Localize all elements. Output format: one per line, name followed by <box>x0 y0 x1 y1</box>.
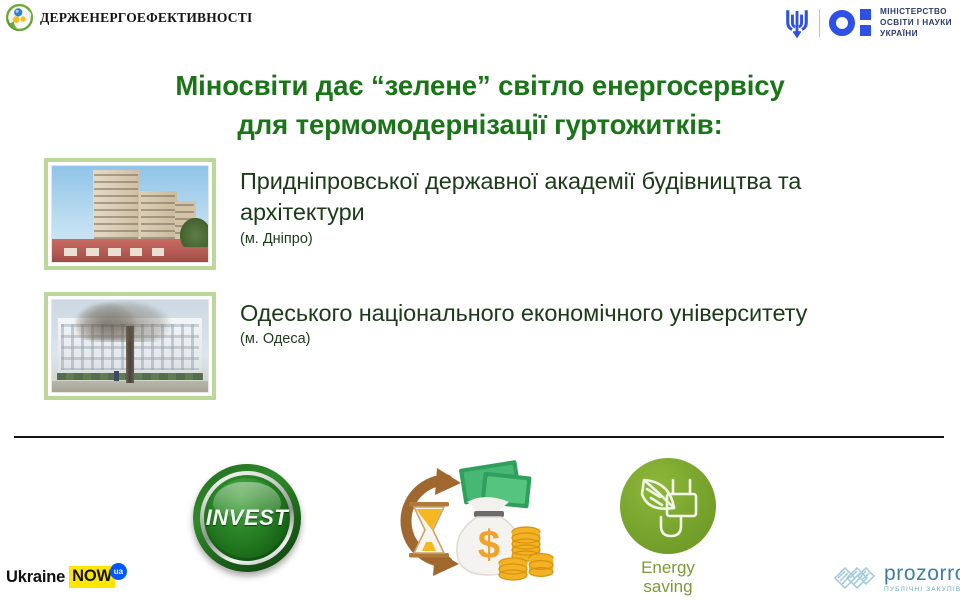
leaf-plug-energy-icon <box>620 458 716 554</box>
slide-title-line-1: Міносвіти дає “зелене” світло енергосерв… <box>0 66 960 105</box>
institution-name: Одеського національного економічного уні… <box>240 298 807 329</box>
dormitory-photo-odesa <box>44 292 216 400</box>
mon-oe-mark-icon <box>829 9 871 36</box>
brand-label: Держенергоефективності <box>40 10 252 26</box>
prozorro-wordmark: prozorro Публічні закупівлі <box>884 563 960 594</box>
slide-title: Міносвіти дає “зелене” світло енергосерв… <box>0 66 960 144</box>
prozorro-rhombus-icon <box>832 560 876 596</box>
list-item: Придніпровської державної академії будів… <box>44 158 840 270</box>
prozorro-name: prozorro <box>884 562 960 585</box>
energy-saving-label-line-1: Energy <box>641 558 695 577</box>
ukraine-now-word-2: NOW <box>69 566 115 588</box>
energy-saving-label-line-2: saving <box>643 577 692 596</box>
institution-name: Придніпровської державної академії будів… <box>240 166 840 229</box>
brand-ministry-of-education: Міністерство Освіти і науки України <box>784 6 952 39</box>
money-bag-hourglass-coins-icon: $ $ <box>385 458 555 588</box>
svg-text:$: $ <box>478 523 500 567</box>
ukraine-now-word-1: Ukraine <box>6 568 65 587</box>
ministry-line-1: Міністерство <box>880 7 947 16</box>
invest-button-icon: INVEST <box>193 464 301 572</box>
prozorro-logo: prozorro Публічні закупівлі <box>832 560 960 596</box>
ukraine-now-logo: Ukraine NOW ua <box>6 566 127 588</box>
institution-city: (м. Дніпро) <box>240 231 840 247</box>
ministry-line-2: Освіти і науки <box>880 18 952 27</box>
dormitory-photo-dnipro <box>44 158 216 270</box>
slide-title-line-2: для термомодернізації гуртожитків: <box>0 105 960 144</box>
page-header: Держенергоефективності Міністерств <box>0 0 960 46</box>
invest-label: INVEST <box>193 464 301 572</box>
list-item-text: Одеського національного економічного уні… <box>240 292 807 347</box>
ministry-name: Міністерство Освіти і науки України <box>880 6 952 39</box>
ukraine-now-ua-badge: ua <box>110 563 127 580</box>
institution-city: (м. Одеса) <box>240 331 807 347</box>
brand-derzhenergoefektyvnosti: Держенергоефективності <box>6 4 252 31</box>
prozorro-subtitle: Публічні закупівлі <box>884 587 960 594</box>
energy-saving-badge: Energy saving <box>620 458 716 588</box>
energy-saving-label: Energy saving <box>620 558 716 596</box>
list-item-text: Придніпровської державної академії будів… <box>240 158 840 247</box>
logo-divider <box>819 9 820 37</box>
horizontal-divider <box>14 436 944 438</box>
derzhenergoefektyvnosti-globe-icon <box>6 4 33 31</box>
list-item: Одеського національного економічного уні… <box>44 292 807 400</box>
ministry-line-3: України <box>880 29 918 38</box>
ukraine-trident-icon <box>784 7 810 39</box>
